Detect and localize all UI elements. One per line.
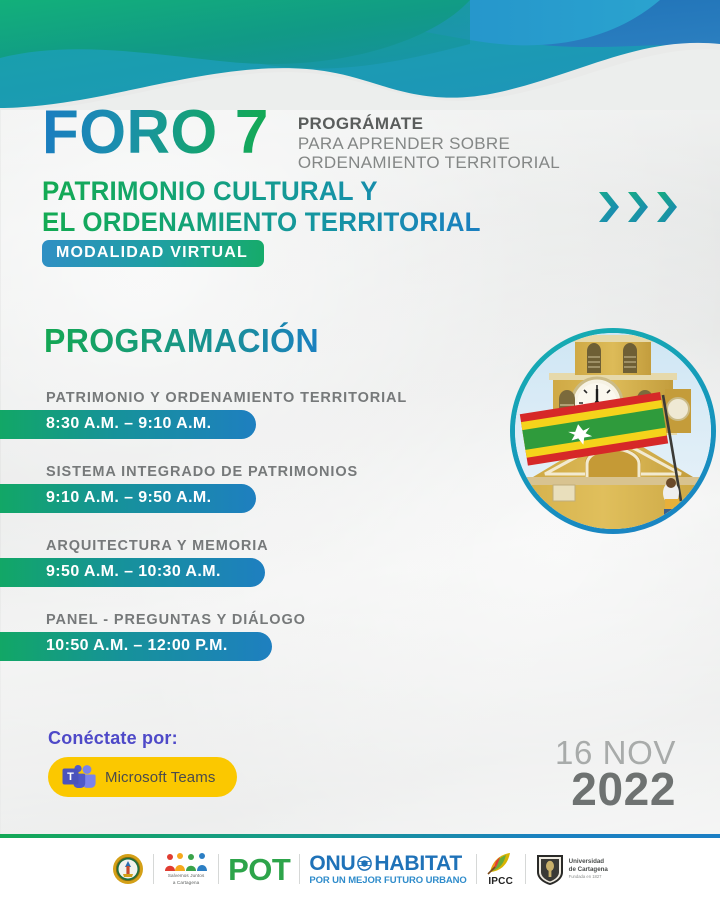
logo-pot: POT — [219, 849, 299, 889]
subtitle-line-1: PATRIMONIO CULTURAL Y — [42, 176, 481, 207]
schedule-list: PATRIMONIO Y ORDENAMIENTO TERRITORIAL 8:… — [0, 390, 470, 686]
universidad-cartagena-shield-icon — [535, 852, 565, 886]
schedule-item-title: ARQUITECTURA Y MEMORIA — [46, 538, 470, 554]
logo-salvemos-juntos: Salvemos Juntos a Cartagena — [154, 849, 218, 889]
ipcc-label: IPCC — [488, 876, 513, 887]
clock-tower-illustration — [515, 333, 711, 529]
schedule-item: PANEL - PREGUNTAS Y DIÁLOGO 10:50 A.M. –… — [0, 612, 470, 661]
connect-section: Conéctate por: T Microsoft Teams — [48, 728, 237, 797]
schedule-item-title: PANEL - PREGUNTAS Y DIÁLOGO — [46, 612, 470, 628]
logo-alcaldia-cartagena — [103, 849, 153, 889]
logo-onu-habitat: ONU HABITAT POR UN MEJOR FUTURO URBANO — [300, 849, 475, 889]
clock-tower-photo-inner — [515, 333, 711, 529]
salvemos-juntos-label: Salvemos Juntos a Cartagena — [168, 873, 204, 885]
pot-label: POT — [228, 854, 290, 885]
onu-habitat-sub-label: POR UN MEJOR FUTURO URBANO — [309, 876, 466, 886]
event-date-year: 2022 — [555, 766, 676, 812]
programate-line-3: ORDENAMIENTO TERRITORIAL — [298, 153, 560, 173]
section-heading-programacion: PROGRAMACIÓN — [44, 322, 319, 360]
logo-universidad-cartagena: Universidad de Cartagena Fundada en 1827 — [526, 849, 617, 889]
microsoft-teams-icon: T — [62, 764, 96, 790]
universidad-cartagena-label: Universidad de Cartagena Fundada en 1827 — [569, 858, 608, 880]
onu-habitat-main-label: ONU HABITAT — [309, 853, 462, 874]
modality-badge: MODALIDAD VIRTUAL — [42, 240, 264, 267]
schedule-item-time: 8:30 A.M. – 9:10 A.M. — [0, 410, 256, 439]
schedule-item: SISTEMA INTEGRADO DE PATRIMONIOS 9:10 A.… — [0, 464, 470, 513]
ipcc-feather-icon — [486, 851, 516, 875]
connect-label: Conéctate por: — [48, 728, 237, 749]
onu-globe-icon — [357, 856, 372, 871]
chevron-right-icon — [625, 190, 651, 224]
schedule-item: PATRIMONIO Y ORDENAMIENTO TERRITORIAL 8:… — [0, 390, 470, 439]
alcaldia-seal-icon — [112, 853, 144, 885]
programate-line-2: PARA APRENDER SOBRE — [298, 134, 560, 154]
page-title-foro: FORO 7 — [42, 104, 269, 163]
schedule-item: ARQUITECTURA Y MEMORIA 9:50 A.M. – 10:30… — [0, 538, 470, 587]
schedule-item-title: SISTEMA INTEGRADO DE PATRIMONIOS — [46, 464, 470, 480]
chevron-right-icon — [596, 190, 622, 224]
logo-ipcc: IPCC — [477, 849, 525, 889]
schedule-item-title: PATRIMONIO Y ORDENAMIENTO TERRITORIAL — [46, 390, 470, 406]
svg-text:T: T — [67, 771, 74, 783]
chevron-right-icons — [596, 190, 680, 224]
microsoft-teams-label: Microsoft Teams — [105, 769, 215, 786]
poster-root: FORO 7 PROGRÁMATE PARA APRENDER SOBRE OR… — [0, 0, 720, 900]
programate-block: PROGRÁMATE PARA APRENDER SOBRE ORDENAMIE… — [298, 114, 560, 173]
microsoft-teams-button[interactable]: T Microsoft Teams — [48, 757, 237, 797]
footer-logo-strip: Salvemos Juntos a Cartagena POT ONU HAB — [0, 838, 720, 900]
subtitle-line-2: EL ORDENAMIENTO TERRITORIAL — [42, 207, 481, 238]
salvemos-juntos-people-icon — [163, 852, 209, 872]
clock-tower-photo — [510, 328, 716, 534]
schedule-item-time: 9:10 A.M. – 9:50 A.M. — [0, 484, 256, 513]
event-date: 16 NOV 2022 — [555, 736, 676, 812]
schedule-item-time: 9:50 A.M. – 10:30 A.M. — [0, 558, 265, 587]
chevron-right-icon — [654, 190, 680, 224]
schedule-item-time: 10:50 A.M. – 12:00 P.M. — [0, 632, 272, 661]
poster-subtitle: PATRIMONIO CULTURAL Y EL ORDENAMIENTO TE… — [42, 176, 481, 238]
programate-bold-line: PROGRÁMATE — [298, 114, 560, 134]
headline-row: FORO 7 PROGRÁMATE PARA APRENDER SOBRE OR… — [42, 104, 560, 173]
